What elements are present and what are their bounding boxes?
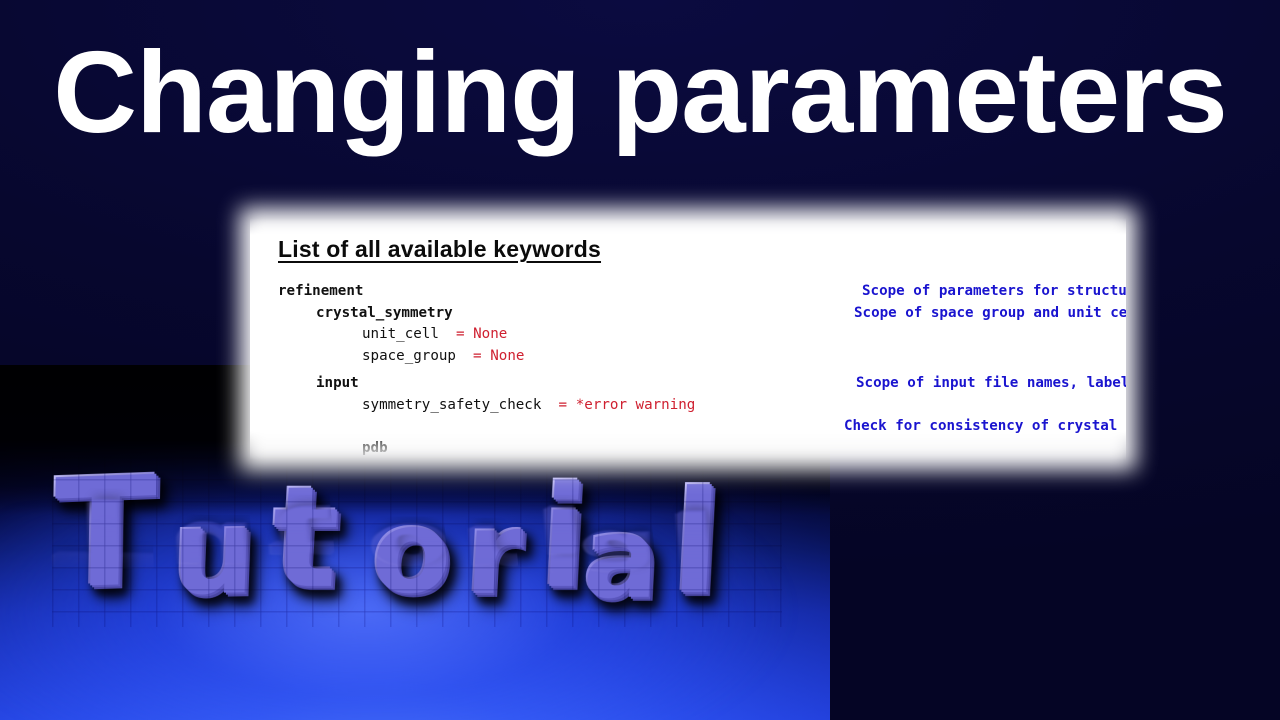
page-title: Changing parameters [0, 34, 1280, 150]
keyword-value: None [473, 324, 507, 346]
keyword-name: file_name = [414, 459, 525, 460]
artwork-word-tutorial: TTuuttoorriiaall [52, 457, 782, 627]
artwork-letter-reflection: u [166, 515, 254, 587]
keyword-equals-sign: = [558, 397, 575, 413]
keyword-value: None [490, 346, 524, 368]
keyword-row: unit_cell = None [264, 324, 1120, 346]
keyword-name: unit_cell = [362, 324, 473, 346]
keyword-row: refinementScope of parameters for struct… [264, 281, 1120, 303]
keyword-row: symmetry_safety_check = *error warning [264, 395, 1120, 417]
keyword-list: refinementScope of parameters for struct… [264, 281, 1120, 460]
artwork-letter-reflection: a [576, 523, 657, 590]
keyword-name: space_group = [362, 346, 490, 368]
artwork-letter-reflection: o [364, 516, 450, 586]
keywords-panel: List of all available keywords refinemen… [240, 208, 1136, 470]
keyword-name: pdb [362, 438, 388, 460]
keyword-description: Check for consistency of crystal symmetr… [844, 416, 1126, 438]
keyword-equals-sign: = [456, 326, 473, 342]
artwork-letter-reflection: r [458, 518, 520, 586]
keyword-row: space_group = None [264, 346, 1120, 368]
keyword-row: Check for consistency of crystal symmetr… [264, 416, 1120, 438]
keyword-row: inputScope of input file names, labels, … [264, 373, 1120, 395]
keyword-name: crystal_symmetry [316, 303, 453, 325]
panel-surface: List of all available keywords refinemen… [250, 218, 1126, 460]
artwork-letter-reflection: t [263, 495, 337, 579]
panel-heading: List of all available keywords [278, 236, 1120, 263]
keyword-row: file_name = NoneModel file(s) name (PDB) [264, 459, 1120, 460]
keyword-equals-sign: = [473, 348, 490, 364]
artwork-letter-reflection: l [663, 499, 719, 584]
keyword-row: crystal_symmetryScope of space group and… [264, 303, 1120, 325]
keyword-description: Scope of parameters for structure refine… [862, 281, 1126, 303]
keyword-value: None [525, 459, 559, 460]
slide-background: Changing parameters TTuuttoorriiaall Lis… [0, 0, 1280, 720]
keyword-name: symmetry_safety_check = [362, 395, 576, 417]
keyword-value: *error warning [576, 395, 696, 417]
keyword-name: refinement [278, 281, 363, 303]
keyword-name: input [316, 373, 359, 395]
artwork-letter-reflection: T [49, 487, 154, 579]
keyword-description: Model file(s) name (PDB) [604, 459, 809, 460]
keyword-description: Scope of space group and unit cell param… [854, 303, 1126, 325]
keyword-description: Scope of input file names, labels, proce… [856, 373, 1126, 395]
keyword-row: pdb [264, 438, 1120, 460]
